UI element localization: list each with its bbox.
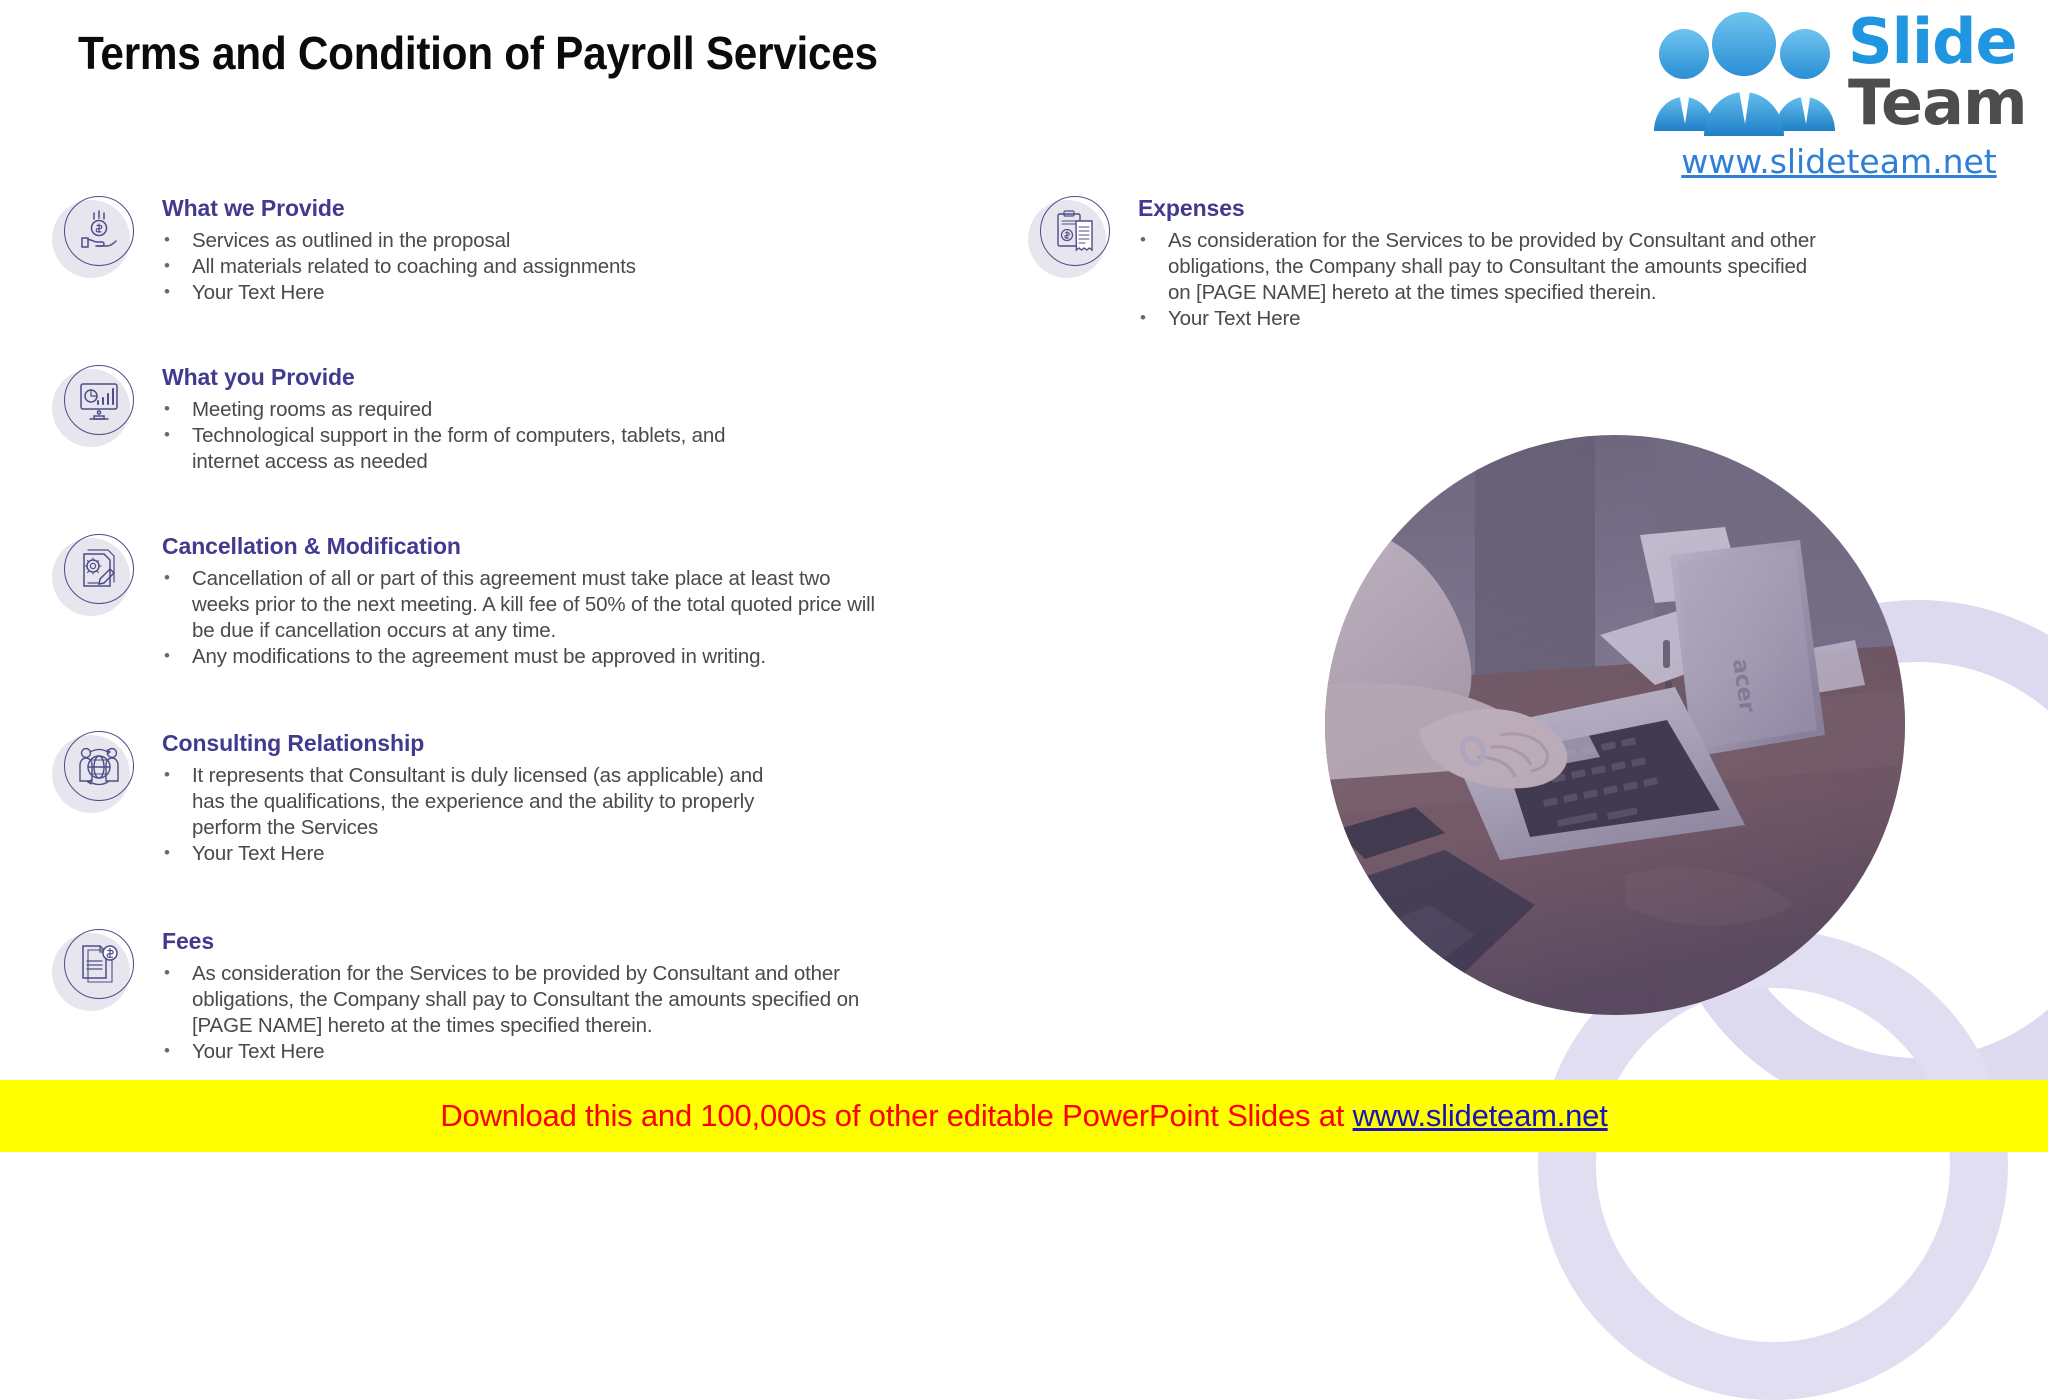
three-people-icon xyxy=(1650,6,1840,146)
icon-glyph-doc-dollar xyxy=(76,941,122,987)
bullet-list: As consideration for the Services to be … xyxy=(162,961,892,1065)
list-item: Cancellation of all or part of this agre… xyxy=(162,566,882,644)
icon-glyph-people-globe xyxy=(76,743,122,789)
bullet-list: Meeting rooms as required Technological … xyxy=(162,397,732,475)
icon-glyph-doc-gear-pencil xyxy=(76,546,122,592)
slideteam-logo[interactable]: Slide Team www.slideteam.net xyxy=(1630,0,2048,196)
block-body: Consulting Relationship It represents th… xyxy=(162,731,782,867)
block-heading: Expenses xyxy=(1138,196,1818,222)
list-item: As consideration for the Services to be … xyxy=(162,961,892,1039)
list-item: Technological support in the form of com… xyxy=(162,423,732,475)
block-heading: Cancellation & Modification xyxy=(162,534,882,560)
icon-glyph-monitor-chart xyxy=(76,377,122,423)
block-body: Expenses As consideration for the Servic… xyxy=(1138,196,1818,332)
block-heading: What you Provide xyxy=(162,365,732,391)
document-gear-pencil-icon xyxy=(52,534,136,618)
banner-link[interactable]: www.slideteam.net xyxy=(1353,1098,1608,1133)
block-body: What we Provide Services as outlined in … xyxy=(162,196,636,306)
promo-banner: Download this and 100,000s of other edit… xyxy=(0,1080,2048,1152)
block-body: Cancellation & Modification Cancellation… xyxy=(162,534,882,670)
block-heading: Fees xyxy=(162,929,892,955)
bullet-list: As consideration for the Services to be … xyxy=(1138,228,1818,332)
bullet-list: Services as outlined in the proposal All… xyxy=(162,228,636,306)
logo-url-link[interactable]: www.slideteam.net xyxy=(1630,142,2048,181)
banner-message: Download this and 100,000s of other edit… xyxy=(440,1098,1352,1133)
icon-glyph-invoice-receipt xyxy=(1052,208,1098,254)
list-item: Services as outlined in the proposal xyxy=(162,228,636,254)
page-title: Terms and Condition of Payroll Services xyxy=(78,26,878,80)
list-item: Your Text Here xyxy=(162,280,636,306)
list-item: Any modifications to the agreement must … xyxy=(162,644,882,670)
block-body: Fees As consideration for the Services t… xyxy=(162,929,892,1065)
monitor-analytics-icon xyxy=(52,365,136,449)
hand-holding-money-icon xyxy=(52,196,136,280)
logo-text-team: Team xyxy=(1848,66,2027,139)
list-item: Your Text Here xyxy=(162,841,782,867)
icon-glyph-hand-money xyxy=(76,208,122,254)
list-item: It represents that Consultant is duly li… xyxy=(162,763,782,841)
document-dollar-icon xyxy=(52,929,136,1013)
photo-image: acer xyxy=(1325,435,1905,1015)
bullet-list: It represents that Consultant is duly li… xyxy=(162,763,782,867)
list-item: As consideration for the Services to be … xyxy=(1138,228,1818,306)
bullet-list: Cancellation of all or part of this agre… xyxy=(162,566,882,670)
people-globe-icon xyxy=(52,731,136,815)
list-item: All materials related to coaching and as… xyxy=(162,254,636,280)
list-item: Your Text Here xyxy=(162,1039,892,1065)
list-item: Meeting rooms as required xyxy=(162,397,732,423)
block-heading: What we Provide xyxy=(162,196,636,222)
list-item: Your Text Here xyxy=(1138,306,1818,332)
block-heading: Consulting Relationship xyxy=(162,731,782,757)
block-body: What you Provide Meeting rooms as requir… xyxy=(162,365,732,475)
laptop-photo: acer xyxy=(1325,435,1905,1015)
banner-text: Download this and 100,000s of other edit… xyxy=(440,1098,1607,1134)
invoice-receipt-dollar-icon xyxy=(1028,196,1112,280)
